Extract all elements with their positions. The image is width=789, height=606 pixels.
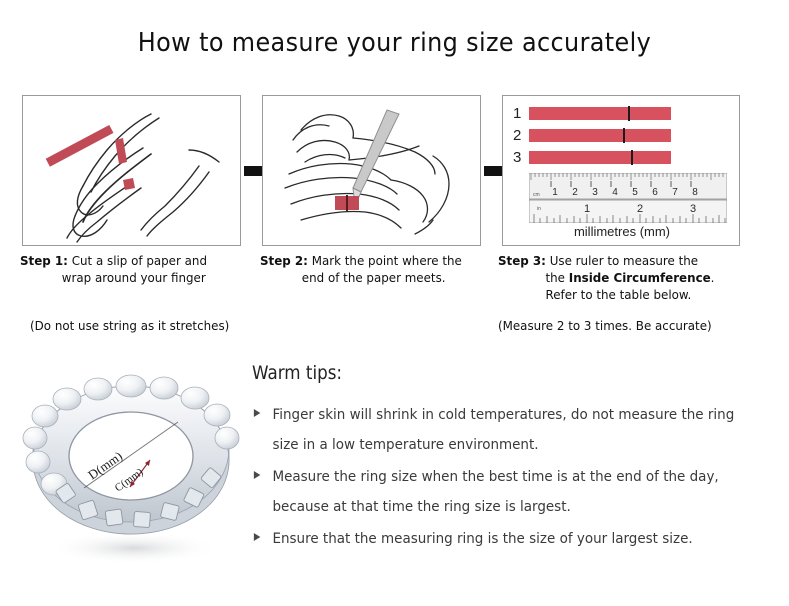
step-2-line1: Mark the point where the bbox=[312, 253, 462, 268]
step-3-line2: the Inside Circumference. bbox=[498, 269, 747, 286]
measured-strips: 1 2 3 bbox=[513, 104, 731, 170]
svg-text:in: in bbox=[537, 206, 541, 212]
paper-strip-loose bbox=[46, 125, 114, 167]
warm-tip-item: Measure the ring size when the best time… bbox=[252, 462, 736, 522]
svg-text:3: 3 bbox=[690, 203, 696, 215]
step-3-panel: 1 2 3 bbox=[502, 95, 740, 246]
triangle-bullet-icon bbox=[254, 409, 261, 417]
step-2-line2: end of the paper meets. bbox=[260, 269, 488, 286]
step-3-line2-suffix: . bbox=[711, 270, 715, 285]
strip-row: 1 bbox=[513, 104, 731, 122]
step-2-label: Step 2: bbox=[260, 253, 308, 268]
strip-number: 1 bbox=[513, 106, 529, 121]
step-3-note: (Measure 2 to 3 times. Be accurate) bbox=[498, 318, 712, 333]
warm-tips-heading: Warm tips: bbox=[252, 362, 710, 384]
warm-tip-text: Ensure that the measuring ring is the si… bbox=[272, 531, 692, 547]
ruler: 12 34 56 78 cm 123 in bbox=[529, 173, 727, 223]
svg-text:4: 4 bbox=[612, 187, 618, 198]
step-2-caption: Step 2: Mark the point where the end of … bbox=[260, 252, 488, 286]
svg-text:1: 1 bbox=[584, 203, 590, 215]
triangle-bullet-icon bbox=[254, 471, 261, 479]
svg-text:7: 7 bbox=[672, 187, 678, 198]
warm-tip-item: Finger skin will shrink in cold temperat… bbox=[252, 400, 736, 460]
svg-text:cm: cm bbox=[533, 192, 540, 198]
step-2-illustration bbox=[263, 96, 480, 245]
triangle-bullet-icon bbox=[254, 533, 261, 541]
strip-mark bbox=[631, 150, 633, 165]
svg-text:1: 1 bbox=[552, 187, 558, 198]
step-1-note: (Do not use string as it stretches) bbox=[30, 318, 229, 333]
inside-circumference-emphasis: Inside Circumference bbox=[569, 270, 711, 285]
pen bbox=[353, 110, 399, 206]
step-1-illustration bbox=[23, 96, 240, 245]
step-panels: 1 2 3 bbox=[22, 95, 767, 248]
step-1-line1: Cut a slip of paper and bbox=[72, 253, 207, 268]
ruler-unit-caption: millimetres (mm) bbox=[503, 224, 740, 239]
step-2-panel bbox=[262, 95, 481, 246]
step-captions: Step 1: Cut a slip of paper and wrap aro… bbox=[0, 252, 789, 342]
step-3-line1: Use ruler to measure the bbox=[550, 253, 698, 268]
strip-number: 2 bbox=[513, 128, 529, 143]
strip-row: 3 bbox=[513, 148, 731, 166]
svg-text:8: 8 bbox=[692, 187, 698, 198]
strip-bar bbox=[529, 107, 671, 120]
step-3-line3: Refer to the table below. bbox=[498, 286, 747, 303]
step-3-line2-prefix: the bbox=[546, 270, 569, 285]
warm-tip-text: Measure the ring size when the best time… bbox=[272, 469, 718, 515]
warm-tips-section: Warm tips: Finger skin will shrink in co… bbox=[252, 362, 772, 556]
svg-text:6: 6 bbox=[652, 187, 658, 198]
step-3-label: Step 3: bbox=[498, 253, 546, 268]
page-title: How to measure your ring size accurately bbox=[32, 28, 758, 58]
warm-tip-item: Ensure that the measuring ring is the si… bbox=[252, 524, 736, 554]
svg-text:5: 5 bbox=[632, 187, 638, 198]
strip-number: 3 bbox=[513, 150, 529, 165]
strip-bar bbox=[529, 151, 671, 164]
step-1-caption: Step 1: Cut a slip of paper and wrap aro… bbox=[20, 252, 248, 286]
step-1-label: Step 1: bbox=[20, 253, 68, 268]
strip-mark bbox=[628, 106, 630, 121]
svg-text:2: 2 bbox=[572, 187, 578, 198]
ring-illustration: D(mm) C(mm) bbox=[18, 352, 250, 577]
step-1-line2: wrap around your finger bbox=[20, 269, 248, 286]
svg-text:2: 2 bbox=[637, 203, 643, 215]
ring-diagram: D(mm) C(mm) bbox=[18, 352, 250, 577]
strip-row: 2 bbox=[513, 126, 731, 144]
paper-strip-marked bbox=[335, 195, 359, 211]
step-1-panel bbox=[22, 95, 241, 246]
svg-text:3: 3 bbox=[592, 187, 598, 198]
warm-tip-text: Finger skin will shrink in cold temperat… bbox=[272, 407, 734, 453]
strip-mark bbox=[623, 128, 625, 143]
step-3-caption: Step 3: Use ruler to measure the the Ins… bbox=[498, 252, 747, 303]
strip-bar bbox=[529, 129, 671, 142]
